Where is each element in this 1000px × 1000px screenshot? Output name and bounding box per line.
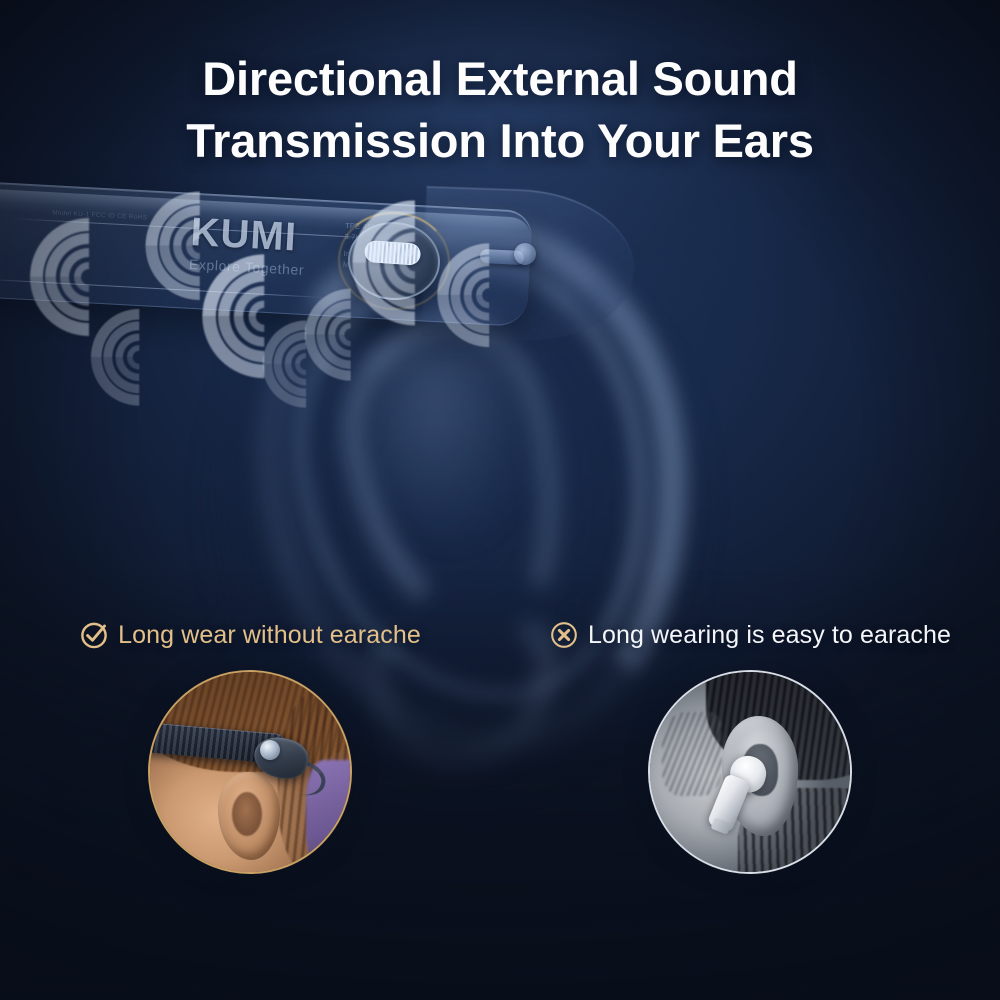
- check-circle-icon: [79, 620, 109, 650]
- caption-good: Long wear without earache: [0, 612, 500, 658]
- open-ear-glasses-photo: [148, 670, 352, 874]
- title-line-2: Transmission Into Your Ears: [0, 110, 1000, 172]
- page-title: Directional External Sound Transmission …: [0, 48, 1000, 172]
- photo-ear-canal: [232, 792, 262, 836]
- caption-bad: Long wearing is easy to earache: [500, 612, 1000, 658]
- x-circle-icon: [549, 620, 579, 650]
- caption-good-text: Long wear without earache: [118, 621, 421, 650]
- photo-sideburn: [662, 712, 722, 796]
- comparison-column-good: Long wear without earache: [0, 612, 500, 658]
- caption-bad-text: Long wearing is easy to earache: [588, 621, 951, 650]
- comparison-column-bad: Long wearing is easy to earache: [500, 612, 1000, 658]
- photo-circle-bad: [648, 670, 852, 874]
- comparison-section: Long wear without earache: [0, 612, 1000, 952]
- product-poster: Model KU-1 FCC ID CE RoHS KUMI Explore T…: [0, 0, 1000, 1000]
- title-line-1: Directional External Sound: [0, 48, 1000, 110]
- in-ear-earbud-photo: [648, 670, 852, 874]
- photo-driver-highlight: [260, 740, 280, 760]
- photo-circle-good: [148, 670, 352, 874]
